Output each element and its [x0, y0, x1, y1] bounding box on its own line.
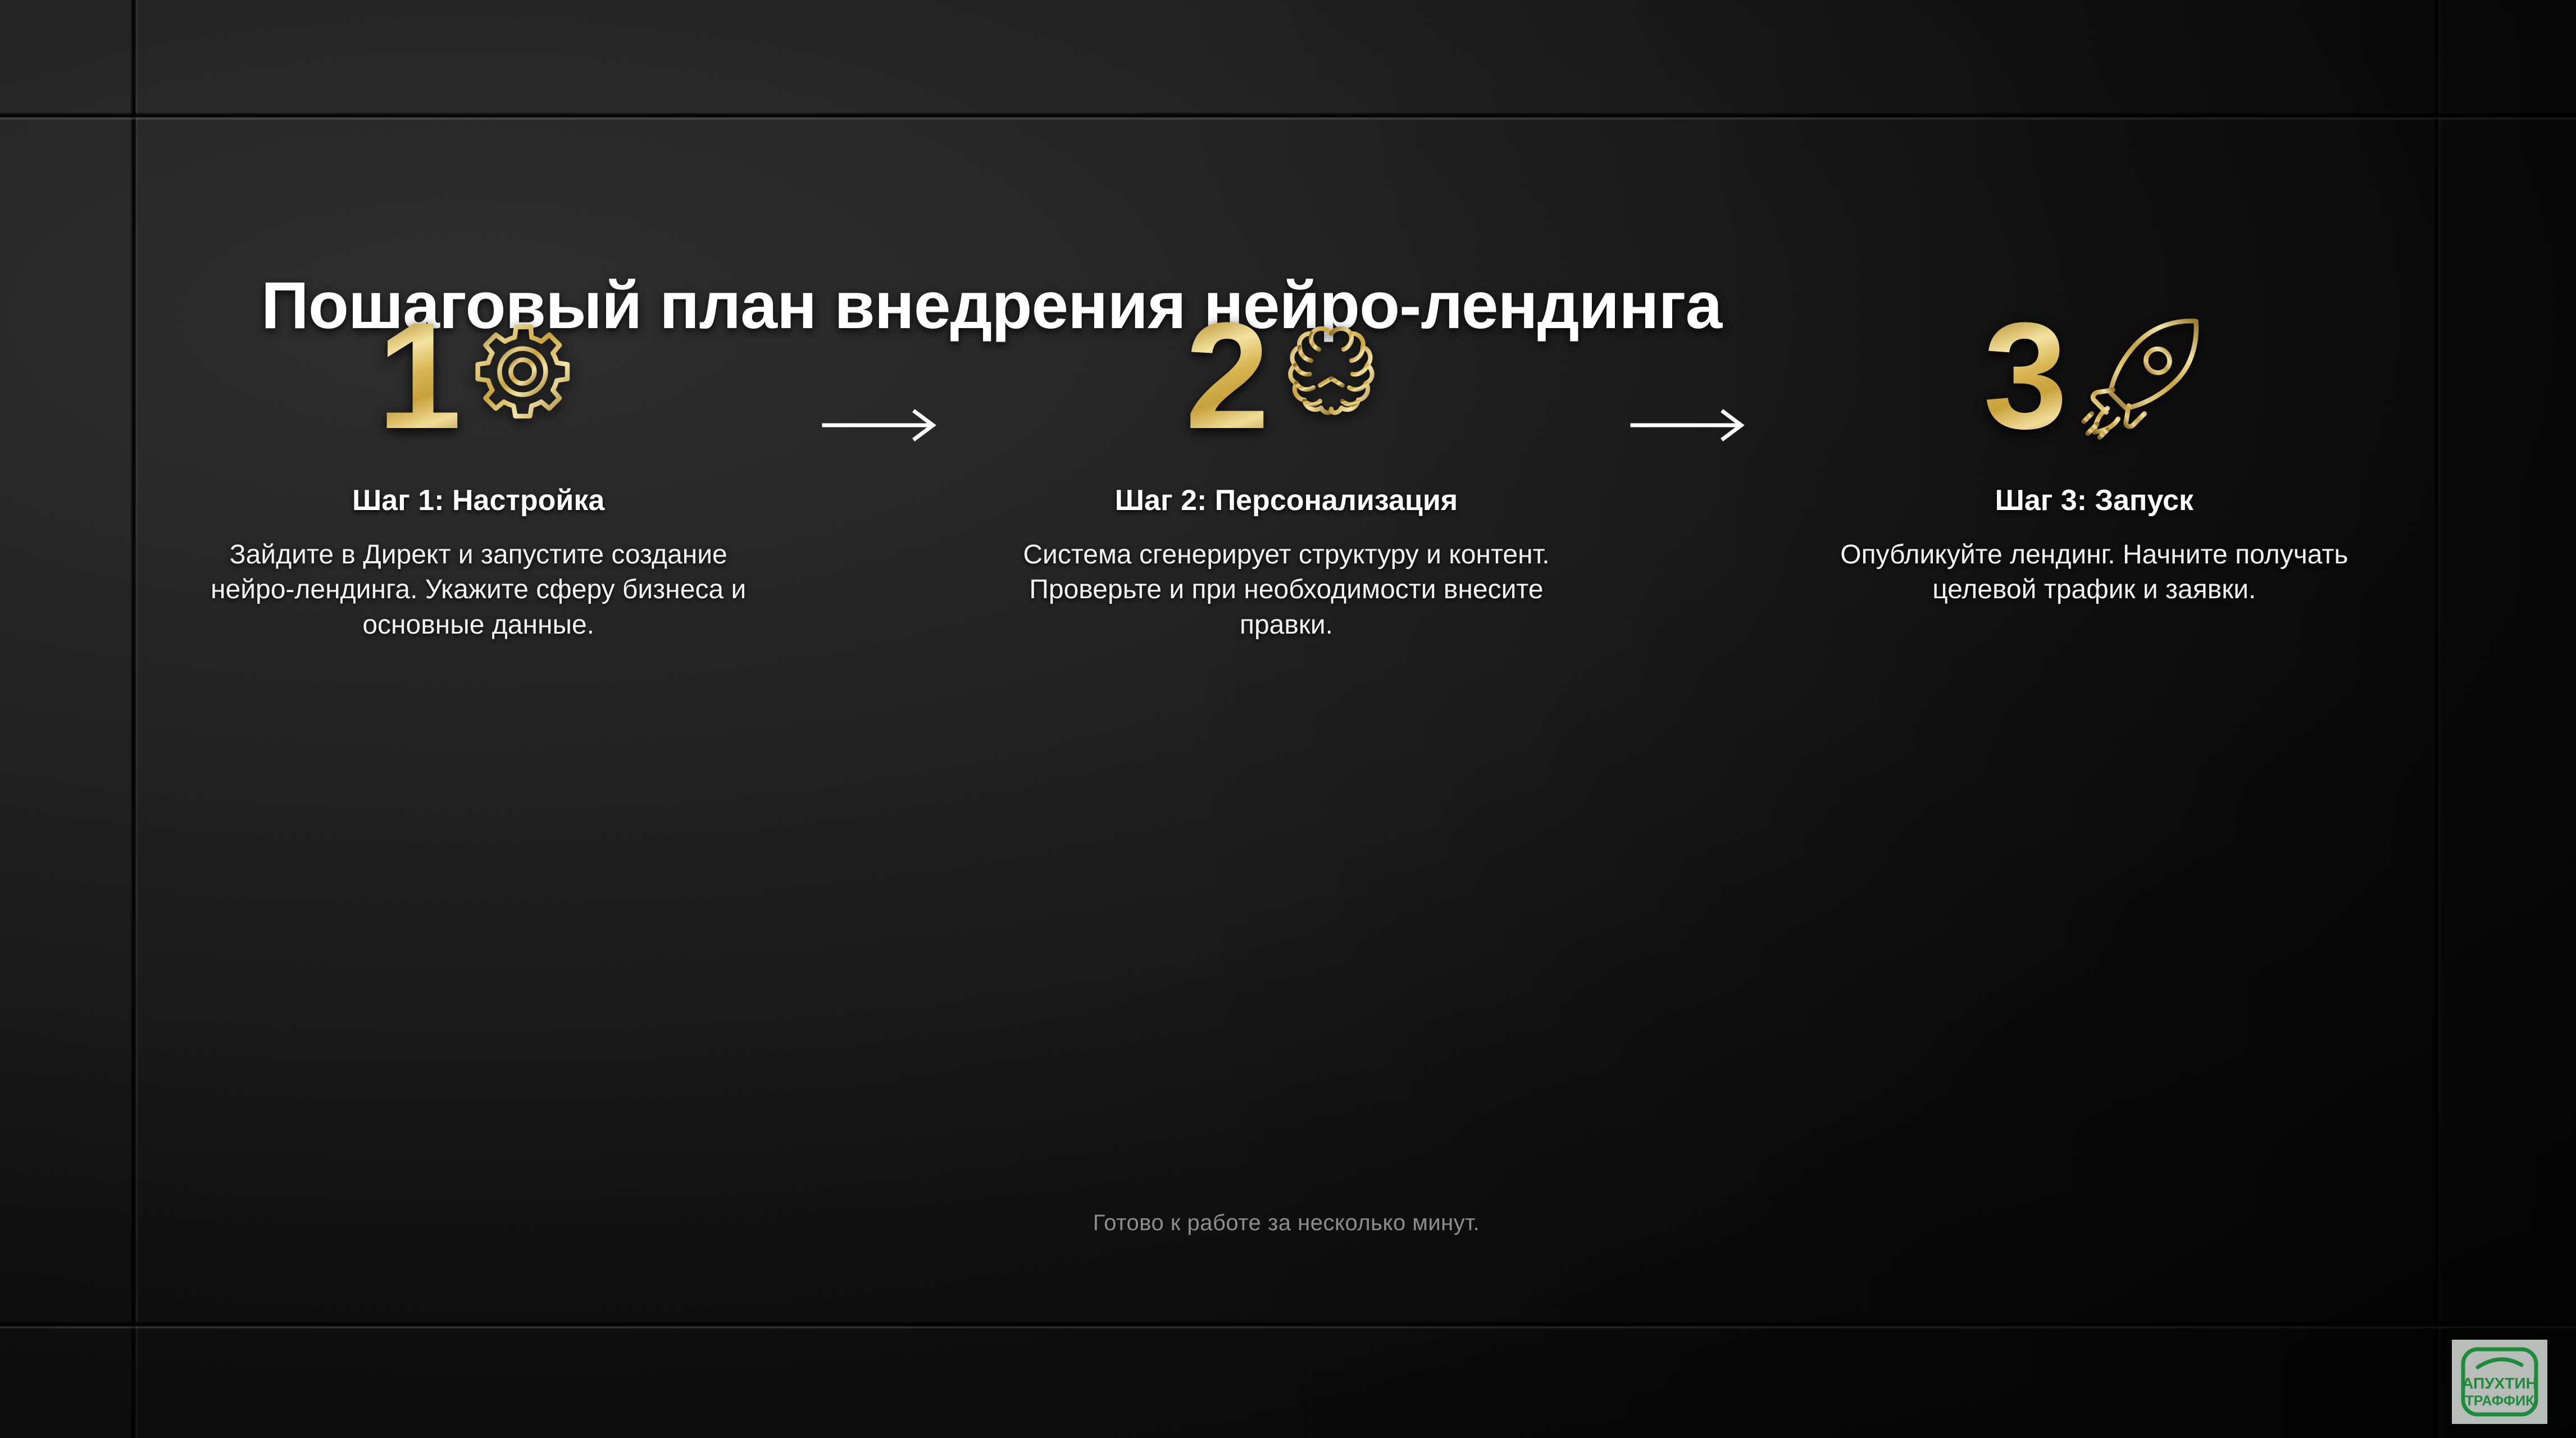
step-1-number: 1 [377, 301, 462, 452]
step-3-heading: Шаг 3: Запуск [1995, 484, 2193, 517]
connector-1 [822, 306, 943, 443]
rocket-icon [2073, 311, 2205, 443]
gear-icon [467, 320, 580, 433]
step-1-body: Зайдите в Директ и запустите создание не… [198, 538, 759, 643]
step-card-1: 1 [135, 306, 822, 643]
step-3-icon-row: 3 [1983, 306, 2205, 447]
step-2-icon-row: 2 [1185, 306, 1387, 447]
logo-apukhtin-traffic: АПУХТИН ТРАФФИК [2452, 1340, 2547, 1424]
arrow-right-icon [822, 407, 943, 443]
steps-row: 1 [135, 306, 2438, 643]
step-2-heading: Шаг 2: Персонализация [1115, 484, 1458, 517]
step-3-number: 3 [1983, 301, 2068, 452]
step-card-3: 3 [1751, 306, 2438, 608]
slide-canvas: Пошаговый план внедрения нейро-лендинга … [0, 0, 2576, 1438]
arrow-right-icon [1630, 407, 1751, 443]
step-1-icon-row: 1 [377, 306, 580, 447]
panel-groove-horizontal-top [0, 112, 2576, 120]
slide-content: Пошаговый план внедрения нейро-лендинга … [135, 121, 2438, 1326]
step-card-2: 2 [943, 306, 1630, 643]
logo-mark: АПУХТИН ТРАФФИК [2457, 1345, 2542, 1419]
footnote: Готово к работе за несколько минут. [135, 1211, 2438, 1236]
connector-2 [1630, 306, 1751, 443]
logo-line-1: АПУХТИН [2462, 1375, 2537, 1392]
step-3-body: Опубликуйте лендинг. Начните получать це… [1813, 538, 2375, 608]
logo-line-2: ТРАФФИК [2465, 1393, 2534, 1409]
logo-swoosh-icon [2478, 1359, 2522, 1367]
step-2-body: Система сгенерирует структуру и контент.… [1005, 538, 1567, 643]
brain-icon [1275, 320, 1387, 433]
step-1-heading: Шаг 1: Настройка [352, 484, 604, 517]
step-2-number: 2 [1185, 301, 1269, 452]
